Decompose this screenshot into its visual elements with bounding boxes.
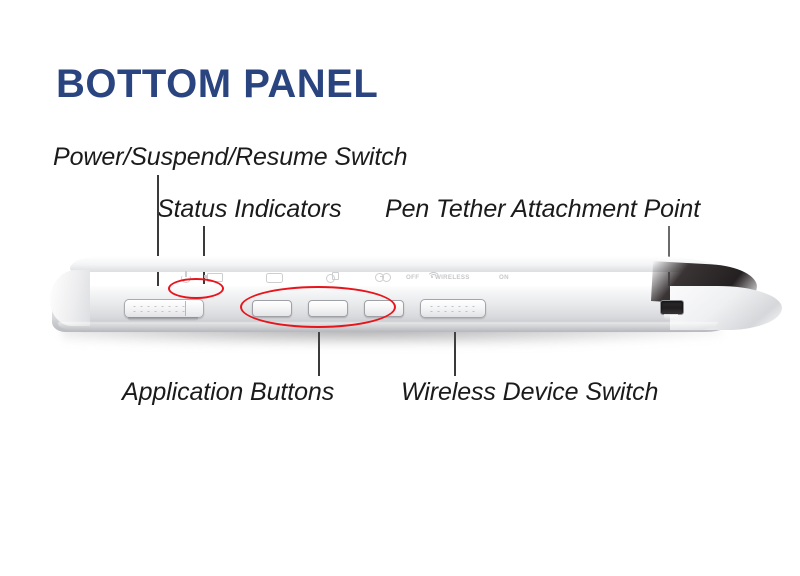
wireless-legend-off: OFF — [406, 274, 419, 281]
status-indicators-highlight-ellipse — [168, 278, 224, 299]
callout-label-application-buttons: Application Buttons — [122, 378, 334, 407]
callout-label-wireless-device-switch: Wireless Device Switch — [401, 378, 658, 407]
pen-tether-attachment-point[interactable] — [660, 300, 684, 315]
bezel-icon-row: OFF WIRELESS ON — [52, 270, 742, 286]
wireless-legend-on: ON — [499, 274, 509, 281]
power-suspend-resume-switch[interactable] — [124, 299, 204, 318]
callout-label-status-indicators: Status Indicators — [157, 195, 342, 224]
power-switch-recess — [128, 317, 198, 321]
switch-thumb[interactable] — [185, 301, 202, 316]
callout-label-pen-tether-attachment-point: Pen Tether Attachment Point — [385, 195, 700, 224]
switch-texture — [131, 304, 187, 313]
switch-texture — [428, 304, 478, 313]
application-buttons-highlight-ellipse — [240, 286, 396, 328]
device-bottom-lip-highlight — [58, 322, 718, 332]
wireless-device-switch[interactable] — [420, 299, 486, 318]
diagram-canvas: BOTTOM PANEL Power/Suspend/Resume Switch… — [0, 0, 800, 576]
page-title: BOTTOM PANEL — [56, 62, 378, 107]
wireless-legend-label: WIRELESS — [435, 274, 470, 281]
callout-label-power-suspend-resume-switch: Power/Suspend/Resume Switch — [53, 143, 407, 172]
pen-tether-notch — [664, 314, 678, 320]
device-illustration-tablet-bottom-edge: OFF WIRELESS ON — [52, 256, 752, 356]
